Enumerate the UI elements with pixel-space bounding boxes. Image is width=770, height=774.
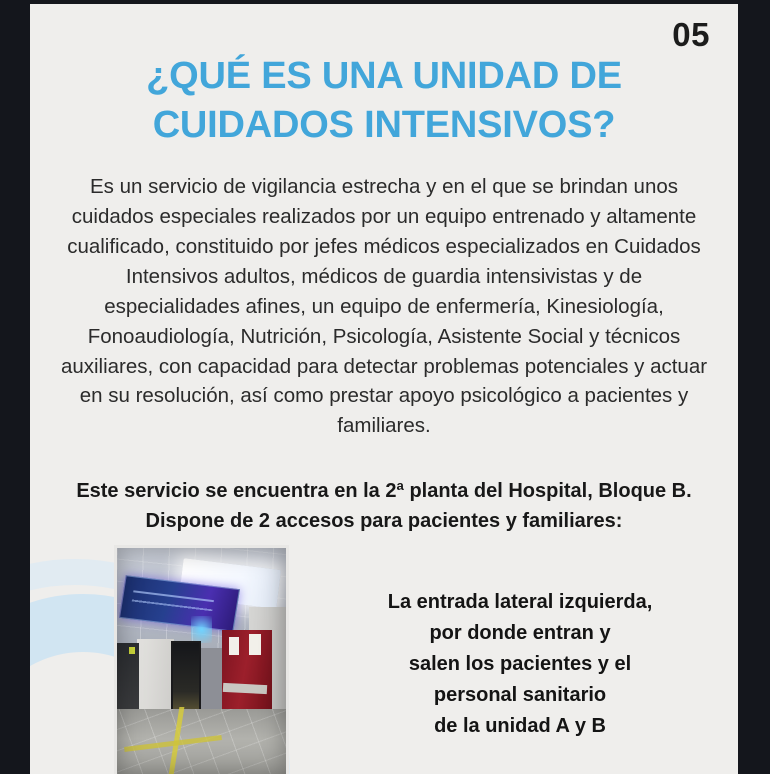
photo-vignette — [117, 548, 286, 774]
left-frame-gutter — [0, 0, 30, 774]
photo-caption-line-1: La entrada lateral izquierda, — [320, 587, 720, 618]
page-title-line-1: ¿QUÉ ES UNA UNIDAD DE — [64, 52, 704, 101]
photo-caption-line-2: por donde entran y — [320, 618, 720, 649]
location-note-line-1: Este servicio se encuentra en la 2ª plan… — [44, 476, 724, 506]
photo-caption: La entrada lateral izquierda, por donde … — [320, 587, 720, 742]
photo-caption-line-4: personal sanitario — [320, 680, 720, 711]
right-frame-gutter — [738, 0, 770, 774]
page-title-line-2: CUIDADOS INTENSIVOS? — [64, 101, 704, 150]
poster-page: 05 ¿QUÉ ES UNA UNIDAD DE CUIDADOS INTENS… — [30, 4, 738, 774]
page-number: 05 — [672, 16, 710, 54]
page-title: ¿QUÉ ES UNA UNIDAD DE CUIDADOS INTENSIVO… — [30, 52, 738, 149]
body-paragraph: Es un servicio de vigilancia estrecha y … — [58, 172, 710, 441]
photo-caption-line-5: de la unidad A y B — [320, 711, 720, 742]
screenshot-root: 05 ¿QUÉ ES UNA UNIDAD DE CUIDADOS INTENS… — [0, 0, 770, 774]
location-note-line-2: Dispone de 2 accesos para pacientes y fa… — [44, 506, 724, 536]
corridor-photo — [114, 545, 289, 774]
corridor-photo-image — [117, 548, 286, 774]
location-note: Este servicio se encuentra en la 2ª plan… — [44, 476, 724, 537]
photo-caption-line-3: salen los pacientes y el — [320, 649, 720, 680]
